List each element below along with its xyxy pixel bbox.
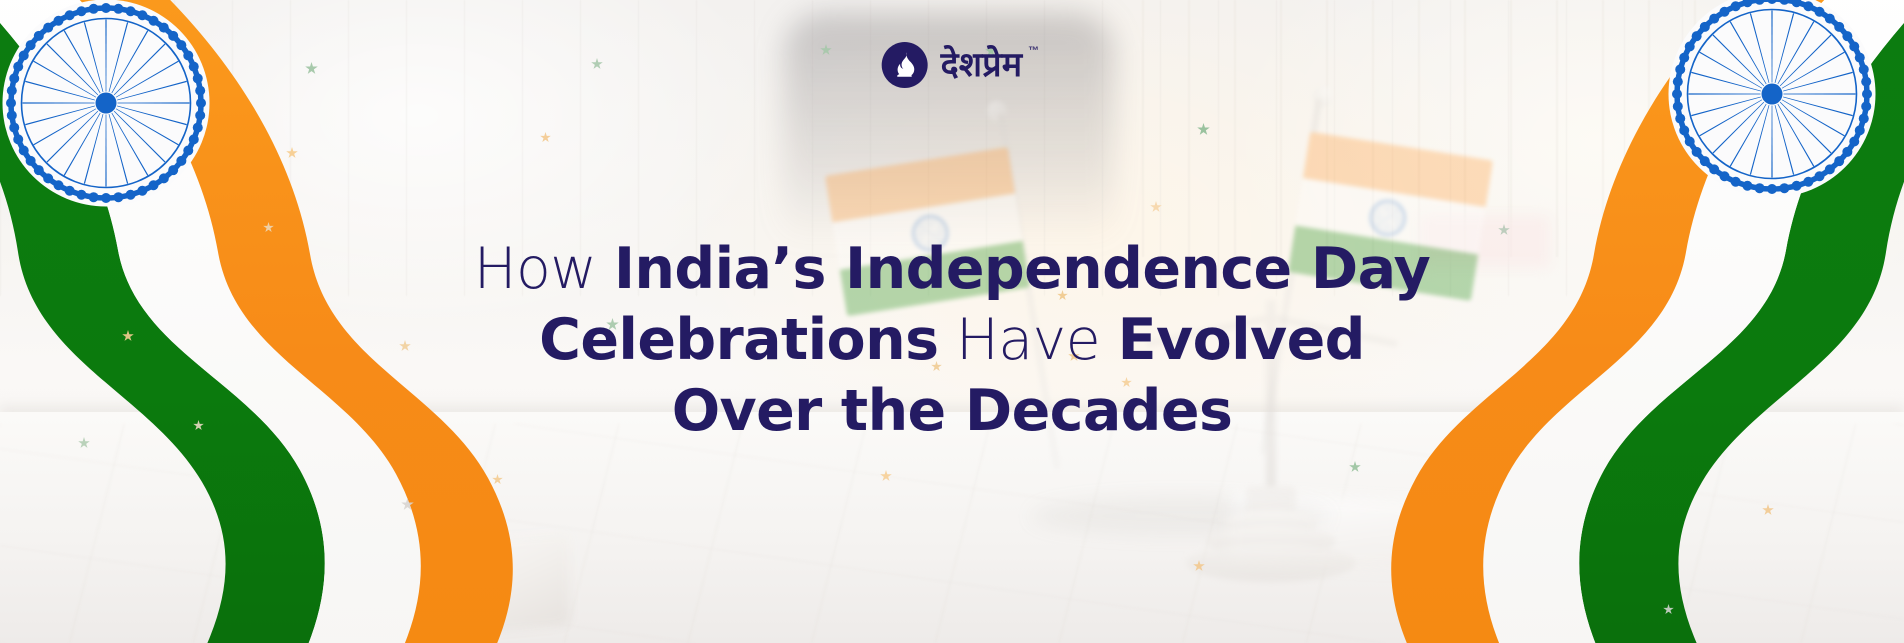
trademark-symbol: ™ [1028, 46, 1039, 57]
confetti-star [820, 44, 832, 56]
brand-name-text: देशप्रेम [941, 45, 1023, 85]
confetti-star [540, 132, 551, 143]
brand-logo[interactable]: देशप्रेम ™ [882, 42, 1023, 88]
confetti-star [78, 437, 90, 449]
page-title: How India’s Independence Day Celebration… [447, 234, 1457, 446]
confetti-star [1197, 123, 1210, 136]
confetti-star [399, 340, 411, 352]
headline-line2-light: Have [938, 307, 1117, 373]
headline-line-2: Celebrations Have Evolved [447, 305, 1457, 376]
confetti-star [1193, 560, 1205, 572]
headline-line3-bold: Over the Decades [672, 378, 1233, 444]
independence-day-banner: देशप्रेम ™ How India’s Independence Day … [0, 0, 1904, 643]
confetti-star [286, 147, 298, 159]
headline-line-1: How India’s Independence Day [447, 234, 1457, 305]
confetti-star [591, 58, 603, 70]
headline-line-3: Over the Decades [447, 376, 1457, 447]
headline-line2-bold-b: Evolved [1118, 307, 1365, 373]
headline-line1-bold: India’s Independence Day [614, 236, 1430, 302]
confetti-star [263, 222, 274, 233]
confetti-star [305, 62, 318, 75]
confetti-star [1349, 461, 1361, 473]
confetti-star [1663, 604, 1674, 615]
confetti-star [193, 420, 204, 431]
headline-line2-bold-a: Celebrations [539, 307, 938, 373]
flame-in-circle-icon [882, 42, 928, 88]
brand-name: देशप्रेम ™ [941, 48, 1023, 82]
confetti-star [492, 474, 503, 485]
confetti-star [1498, 224, 1510, 236]
confetti-star [880, 470, 892, 482]
confetti-star [1762, 504, 1774, 516]
confetti-star [122, 330, 134, 342]
headline-line1-light: How [474, 236, 614, 302]
confetti-star [401, 498, 414, 511]
confetti-star [1150, 201, 1162, 213]
